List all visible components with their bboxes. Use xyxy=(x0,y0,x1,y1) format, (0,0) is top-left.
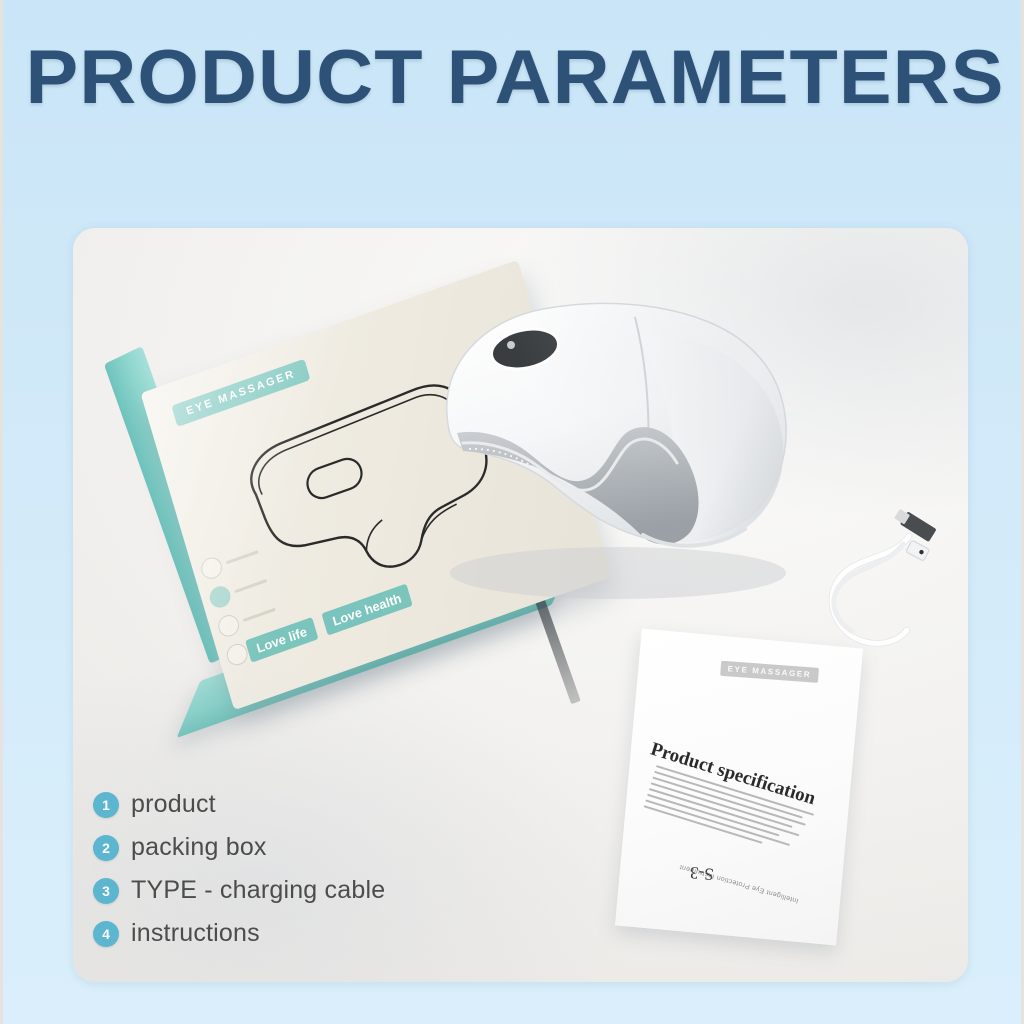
box-shadow-edge xyxy=(531,588,580,704)
legend-label-4: instructions xyxy=(131,919,260,948)
eye-massager-device xyxy=(403,273,823,603)
legend-label-3: TYPE - charging cable xyxy=(131,876,385,905)
sheet-brand-badge: EYE MASSAGER xyxy=(720,661,819,683)
feature-icon xyxy=(207,583,233,610)
feature-icon xyxy=(216,612,242,639)
page-title: PRODUCT PARAMETERS xyxy=(0,40,1024,116)
legend-badge-3: 3 xyxy=(93,878,119,904)
instruction-sheet: EYE MASSAGER Product specification S-3 I… xyxy=(615,629,863,946)
legend-badge-4: 4 xyxy=(93,921,119,947)
legend-badge-2: 2 xyxy=(93,835,119,861)
feature-icon xyxy=(199,555,225,582)
infographic-page: PRODUCT PARAMETERS EYE MASSAGER xyxy=(0,0,1024,1024)
legend-badge-1: 1 xyxy=(93,792,119,818)
list-item: 4 instructions xyxy=(93,919,385,948)
legend-label-2: packing box xyxy=(131,833,267,862)
legend-list: 1 product 2 packing box 3 TYPE - chargin… xyxy=(93,790,385,962)
legend-label-1: product xyxy=(131,790,216,819)
list-item: 1 product xyxy=(93,790,385,819)
list-item: 2 packing box xyxy=(93,833,385,862)
list-item: 3 TYPE - charging cable xyxy=(93,876,385,905)
sheet-subtitle: Intelligent Eye Protection Instrument xyxy=(644,853,800,904)
